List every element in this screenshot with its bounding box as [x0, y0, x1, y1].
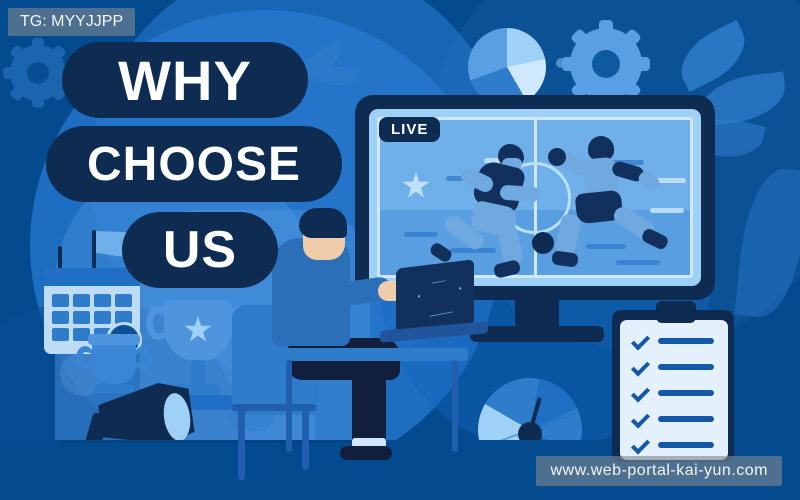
- monitor-neck: [515, 300, 559, 326]
- headline-pill-choose: CHOOSE: [46, 126, 342, 202]
- telegram-tag: TG: MYYJJPP: [8, 8, 135, 36]
- list-item: [632, 362, 714, 372]
- promo-banner: LIVE WHY CHOOSE US TG: MYYJJPP www.web-p…: [0, 0, 800, 500]
- live-badge: LIVE: [379, 117, 440, 142]
- clipboard-clamp: [656, 301, 696, 323]
- list-item: [632, 414, 714, 424]
- check-icon: [631, 435, 650, 454]
- clipboard-paper: [620, 320, 728, 460]
- monitor-stand: [470, 326, 604, 342]
- check-icon: [631, 357, 650, 376]
- website-watermark: www.web-portal-kai-yun.com: [536, 456, 782, 486]
- desk: [268, 348, 468, 361]
- check-icon: [631, 331, 650, 350]
- check-icon: [631, 383, 650, 402]
- monitor-screen: LIVE: [369, 109, 701, 286]
- gear-icon: [570, 28, 642, 100]
- headline-pill-us: US: [122, 212, 278, 288]
- list-item: [632, 336, 714, 346]
- list-item: [632, 440, 714, 450]
- clipboard: [612, 310, 734, 462]
- gear-icon: [10, 45, 66, 101]
- check-icon: [631, 409, 650, 428]
- person-shoe: [340, 446, 392, 460]
- star-icon: [402, 172, 430, 200]
- soccer-ball-icon: [532, 232, 554, 254]
- person-hair: [299, 208, 347, 238]
- list-item: [632, 388, 714, 398]
- headline-pill-why: WHY: [62, 42, 308, 118]
